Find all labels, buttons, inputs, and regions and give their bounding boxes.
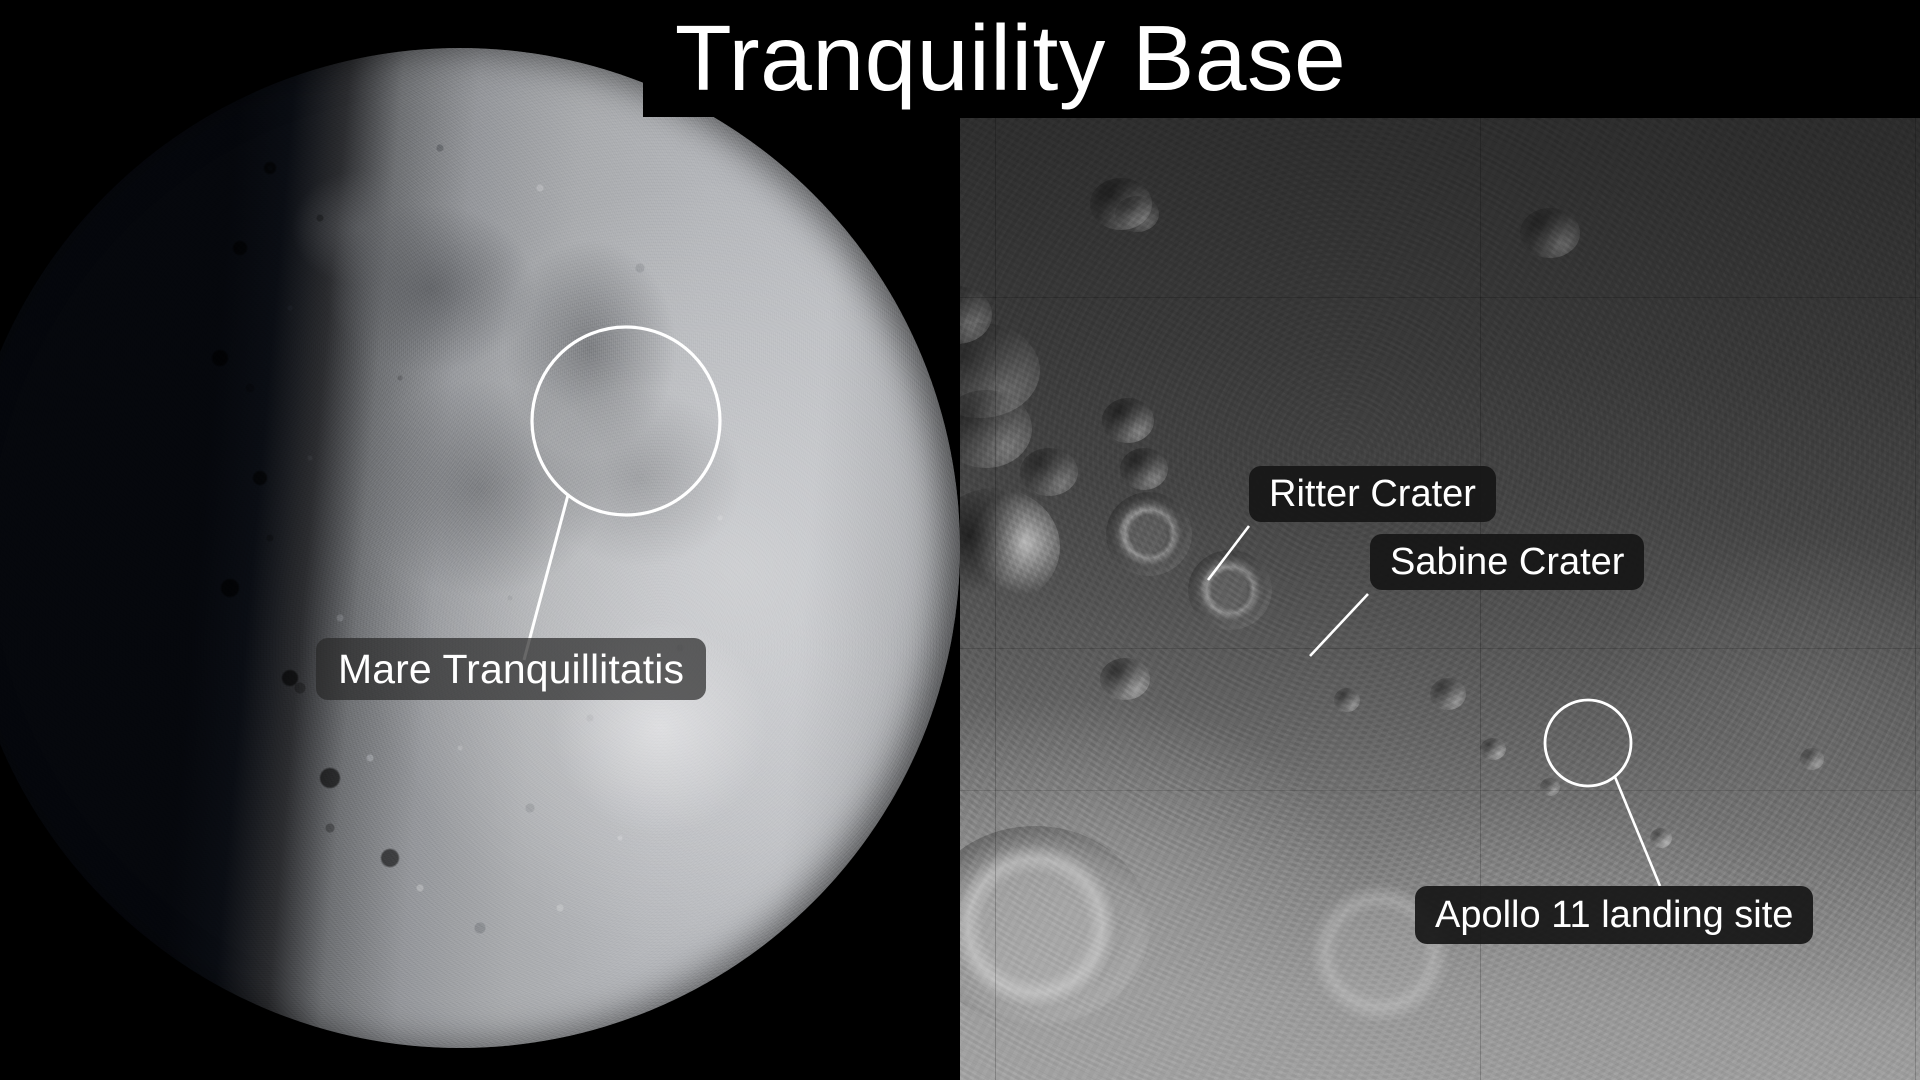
moon-disc-image <box>0 48 960 1048</box>
label-mare-tranquillitatis: Mare Tranquillitatis <box>316 638 706 700</box>
label-sabine-crater: Sabine Crater <box>1370 534 1644 590</box>
title-plate: Tranquility Base <box>643 0 1378 117</box>
figure-canvas: Mare Tranquillitatis Ritter Crater Sabin… <box>0 0 1920 1080</box>
page-title: Tranquility Base <box>643 0 1378 117</box>
label-apollo-11-landing-site: Apollo 11 landing site <box>1415 886 1813 944</box>
moon-surface-noise <box>0 48 960 1048</box>
label-ritter-crater: Ritter Crater <box>1249 466 1496 522</box>
full-moon-panel <box>0 0 960 1080</box>
